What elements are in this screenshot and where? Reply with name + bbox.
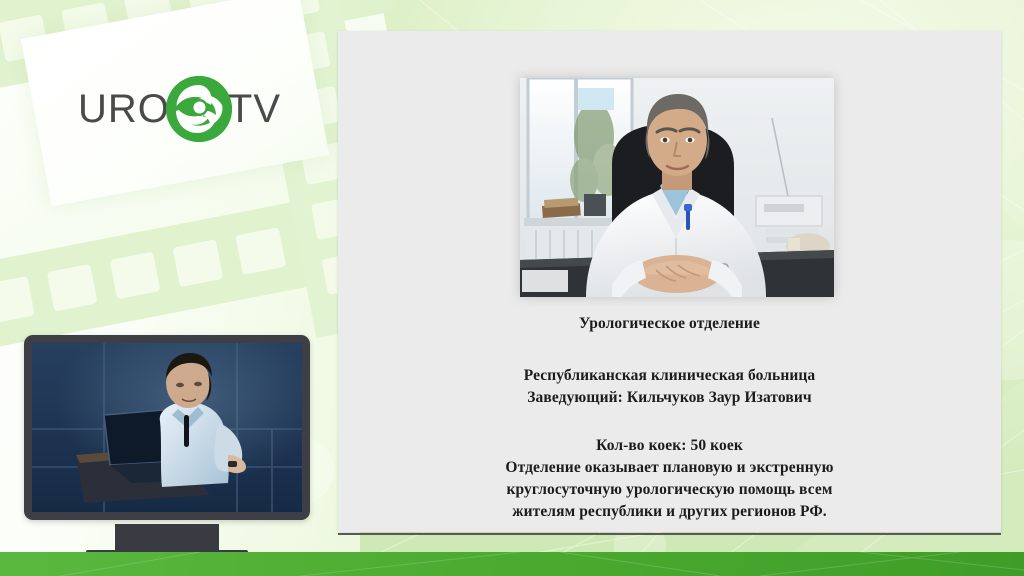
monitor-screen [32, 343, 302, 512]
department-head-name: Заведующий: Кильчуков Заур Изатович [338, 387, 1001, 409]
monitor-thumbnail[interactable] [24, 335, 310, 563]
department-head-photo [520, 78, 834, 297]
uro-tv-logo[interactable]: URO TV [78, 74, 258, 144]
bottom-green-band [0, 552, 1024, 576]
logo-text-tv: TV [228, 89, 281, 129]
hospital-name: Республиканская клиническая больница [338, 365, 1001, 387]
department-title: Урологическое отделение [338, 313, 1001, 335]
description-line-3: жителям республики и других регионов РФ. [338, 501, 1001, 523]
bed-count: Кол-во коек: 50 коек [338, 435, 1001, 457]
description-line-1: Отделение оказывает плановую и экстренну… [338, 457, 1001, 479]
presentation-slide: URO TV [0, 0, 1024, 576]
monitor-stand-neck [115, 524, 219, 550]
uro-tv-emblem-icon [166, 76, 232, 142]
department-info-text: Урологическое отделение Республиканская … [338, 313, 1001, 523]
description-line-2: круглосуточную урологическую помощь всем [338, 479, 1001, 501]
content-panel-underline [338, 533, 1001, 535]
content-panel: Урологическое отделение Республиканская … [338, 31, 1001, 532]
logo-text-uro: URO [78, 89, 170, 129]
band-ray-lines [0, 552, 1024, 576]
monitor-bezel [24, 335, 310, 520]
speaker-at-podium-image [32, 343, 302, 512]
